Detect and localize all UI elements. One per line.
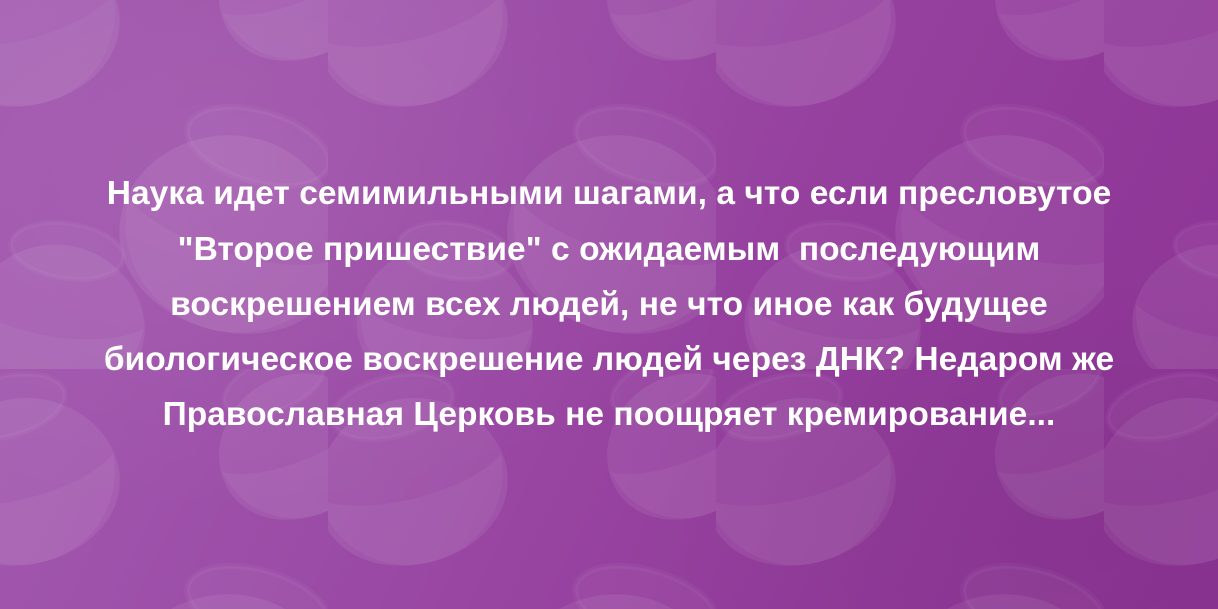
quote-container: Наука идет семимильными шагами, а что ес… — [89, 166, 1129, 442]
quote-banner: Наука идет семимильными шагами, а что ес… — [0, 0, 1218, 609]
quote-text: Наука идет семимильными шагами, а что ес… — [89, 166, 1129, 442]
